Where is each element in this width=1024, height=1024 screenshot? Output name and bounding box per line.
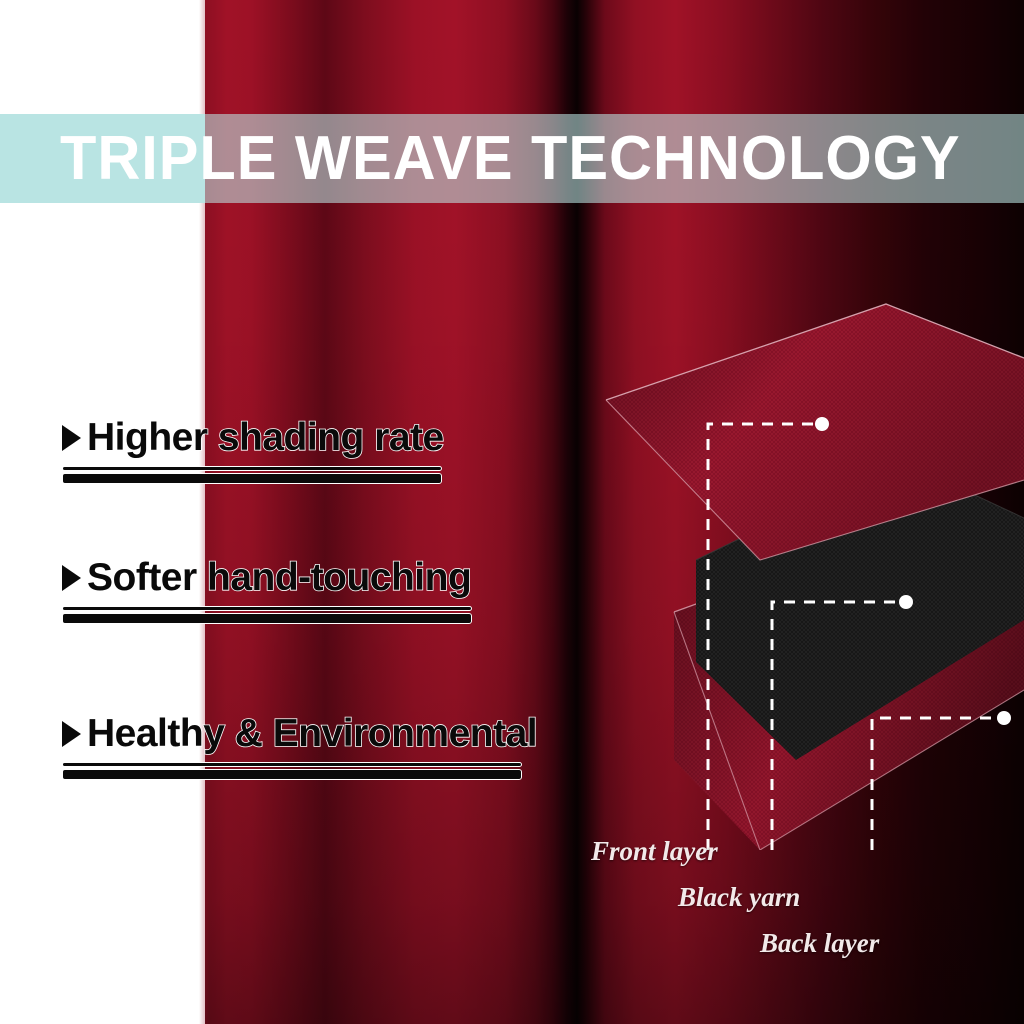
triangle-right-icon xyxy=(62,721,81,747)
feature-row: Softer hand-touching xyxy=(62,558,472,597)
feature-item-1: Higher shading rate xyxy=(62,418,444,484)
header-banner: TRIPLE WEAVE TECHNOLOGY xyxy=(0,114,1024,203)
feature-underline xyxy=(62,606,472,624)
underline-thin xyxy=(62,466,442,471)
underline-thick xyxy=(62,613,472,624)
underline-thin xyxy=(62,762,522,767)
triangle-right-icon xyxy=(62,565,81,591)
callout-label-black-yarn: Black yarn xyxy=(678,882,800,913)
page-title: TRIPLE WEAVE TECHNOLOGY xyxy=(60,128,961,190)
underline-thick xyxy=(62,769,522,780)
product-infographic: TRIPLE WEAVE TECHNOLOGY Higher shading r… xyxy=(0,0,1024,1024)
feature-label: Softer hand-touching xyxy=(87,558,471,597)
feature-label: Higher shading rate xyxy=(87,418,444,457)
callout-label-back-layer: Back layer xyxy=(760,928,879,959)
feature-underline xyxy=(62,762,522,780)
feature-row: Higher shading rate xyxy=(62,418,444,457)
fabric-layer-diagram xyxy=(600,290,1024,850)
feature-underline xyxy=(62,466,442,484)
feature-row: Healthy & Environmental xyxy=(62,714,537,753)
underline-thick xyxy=(62,473,442,484)
callout-label-front-layer: Front layer xyxy=(591,836,718,867)
feature-item-3: Healthy & Environmental xyxy=(62,714,537,780)
triangle-right-icon xyxy=(62,425,81,451)
feature-item-2: Softer hand-touching xyxy=(62,558,472,624)
underline-thin xyxy=(62,606,472,611)
feature-label: Healthy & Environmental xyxy=(87,714,537,753)
